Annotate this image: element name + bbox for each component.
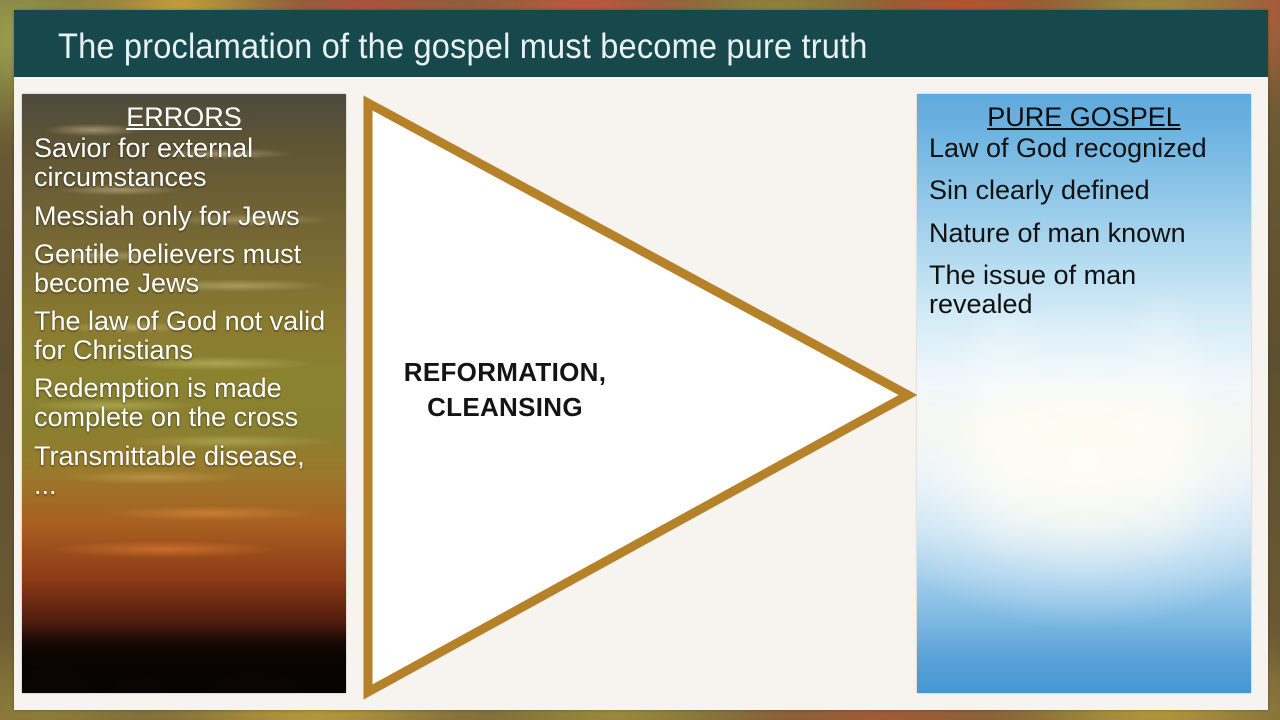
list-item: Gentile believers must become Jews [34, 240, 334, 298]
center-arrow-label: REFORMATION, CLEANSING [380, 355, 630, 425]
list-item: Transmittable disease, ... [34, 442, 334, 500]
errors-panel: ERRORS Savior for external circumstances… [22, 94, 346, 693]
pure-gospel-panel: PURE GOSPEL Law of God recognized Sin cl… [917, 94, 1251, 693]
list-item: The law of God not valid for Christians [34, 307, 334, 365]
slide-canvas: The proclamation of the gospel must beco… [0, 0, 1280, 720]
slide-title-band: The proclamation of the gospel must beco… [14, 10, 1268, 77]
pure-gospel-panel-content: PURE GOSPEL Law of God recognized Sin cl… [917, 94, 1251, 693]
pure-gospel-heading: PURE GOSPEL [929, 102, 1239, 132]
page-title: The proclamation of the gospel must beco… [58, 27, 1155, 67]
list-item: Savior for external circumstances [34, 134, 334, 192]
errors-heading: ERRORS [34, 102, 334, 132]
list-item: Law of God recognized [929, 134, 1239, 163]
center-arrow-label-line2: CLEANSING [380, 390, 630, 425]
list-item: Nature of man known [929, 219, 1239, 248]
list-item: The issue of man revealed [929, 261, 1239, 319]
list-item: Messiah only for Jews [34, 202, 334, 231]
list-item: Redemption is made complete on the cross [34, 374, 334, 432]
center-arrow-label-line1: REFORMATION, [380, 355, 630, 390]
errors-panel-content: ERRORS Savior for external circumstances… [22, 94, 346, 693]
list-item: Sin clearly defined [929, 176, 1239, 205]
